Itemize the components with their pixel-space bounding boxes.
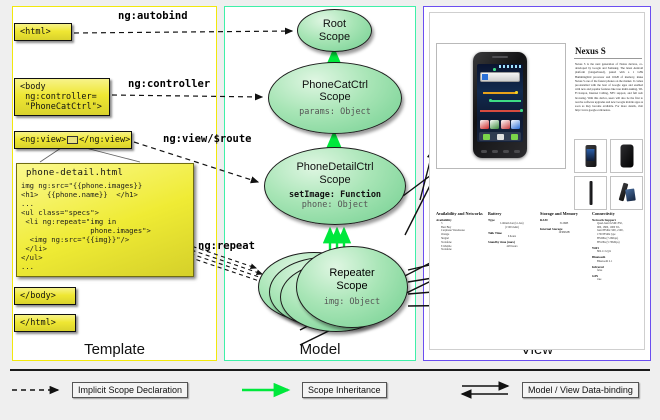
scope-node-root: Root Scope [297,9,372,52]
hero-image-frame [436,43,566,169]
spec-value: Vodafone [436,248,484,252]
screen-dot-2 [515,91,518,94]
diagram-canvas: Template Model View [0,0,660,420]
spec-value: Bluetooth 2.1 [592,260,640,264]
sticky-note-code: img ng:src="{{phone.images}} <h1> {{phon… [17,180,193,276]
scope-repeater-name-line2: Scope [336,280,367,292]
screen-dot-1 [493,68,496,71]
phone-statusbar [499,65,521,68]
scope-root-name-line1: Root [323,18,346,30]
scope-repeater-name-line1: Repeater [329,267,374,279]
dock-icon-apps [497,134,504,140]
scope-phonedetailctrl-name-line1: PhoneDetailCtrl [296,161,373,173]
thumb-phone-front-icon [585,145,596,167]
spec-value: 6 hours [488,235,536,239]
spec-column-availability: Availability and Networks Availability 3… [436,211,484,282]
ng-view-open-tag: <ng:view> [20,135,66,145]
phone-earpiece [492,56,508,58]
thumbnail-angled[interactable] [610,176,643,210]
spec-column-storage: Storage and Memory RAM 512MB Internal St… [540,211,588,282]
title-divider [574,58,642,59]
spec-value: HSUPA (5.76Mbps) [592,241,640,245]
scope-repeater-name: Repeater Scope [329,267,374,292]
scope-phonecatctrl-prop-params: params: Object [299,107,371,118]
legend-label-implicit: Implicit Scope Declaration [72,382,188,398]
scope-phonecatctrl-name-line2: Scope [319,91,350,103]
screen-stripe-green [491,100,521,102]
spec-heading-availability: Availability and Networks [436,211,484,216]
column-label-template: Template [13,341,216,358]
phone-screen [477,64,523,142]
scope-phonecatctrl-name-line1: PhoneCatCtrl [302,79,368,91]
edge-label-ng-view-route: ng:view/$route [163,133,252,145]
thumb-phone-angled-icon [619,183,635,203]
product-title: Nexus S [575,46,606,56]
rendered-view-page: Nexus S Nexus S is the next generation o… [429,12,645,350]
code-block-ng-view: <ng:view></ng:view> [14,131,132,149]
scope-phonecatctrl-name: PhoneCatCtrl Scope [302,79,368,104]
scope-node-repeater-stack: Repeater Scope img: Object [258,238,408,334]
spec-value: 428 hours [488,245,536,249]
legend-item-scope-inheritance: Scope Inheritance [240,381,387,399]
app-icon-1 [480,120,489,129]
spec-heading-connectivity: Connectivity [592,211,640,216]
code-block-body-close: </body> [14,287,76,305]
spec-value: (1500 mAh) [488,226,536,230]
code-block-html-open: <html> [14,23,72,41]
softkey-menu [492,150,498,153]
scope-node-phonedetailctrl: PhoneDetailCtrl Scope setImage: Function… [264,147,406,225]
screen-app-icons [479,118,521,130]
spec-row: Availability and Networks Availability 3… [436,211,640,282]
product-description: Nexus S is the next generation of Nexus … [575,62,643,112]
scope-phonedetailctrl-name: PhoneDetailCtrl Scope [296,161,373,186]
thumb-phone-back-icon [620,145,633,168]
scope-root-name-line2: Scope [319,31,350,43]
thumbnail-front[interactable] [574,139,607,173]
thumbnail-gallery [574,139,644,210]
sticky-note-filename: phone-detail.html [17,164,193,180]
spec-column-connectivity: Connectivity Network Support Quad-band G… [592,211,640,282]
scope-phonedetailctrl-name-line2: Scope [319,174,350,186]
spec-value: false [592,269,640,273]
spec-column-battery: Battery Type Lithium Ion (Li-Ion) (1500 … [488,211,536,282]
phone-softkeys [478,147,522,156]
spec-heading-storage: Storage and Memory [540,211,588,216]
softkey-back [481,150,487,153]
dock-icon-browser [511,134,518,140]
ng-view-close-tag: </ng:view> [79,135,130,145]
spec-value: 802.11 b/g/n [592,250,640,254]
scope-prop-phone: phone: Object [302,200,369,210]
spec-value: 16384MB [540,231,588,235]
scope-phonedetailctrl-props: setImage: Function phone: Object [289,190,381,211]
legend-label-databinding: Model / View Data-binding [522,382,639,398]
code-block-body-open: <body ng:controller= "PhoneCatCtrl"> [14,78,110,116]
screen-dot-3 [489,99,492,102]
sticky-note-phone-detail: phone-detail.html img ng:src="{{phone.im… [16,163,194,277]
hero-phone-image [473,52,527,158]
scope-prop-setimage: setImage: Function [289,190,381,200]
app-icon-2 [490,120,499,129]
legend-icon-double-arrow [460,383,516,397]
scope-node-phonecatctrl: PhoneCatCtrl Scope params: Object [268,62,402,134]
thumb-phone-side-icon [589,181,592,205]
code-block-html-close: </html> [14,314,76,332]
screen-dot-4 [520,109,523,112]
edge-label-ng-controller: ng:controller [128,78,210,90]
softkey-home [503,150,509,153]
app-icon-4 [511,120,520,129]
legend-item-implicit-scope-declaration: Implicit Scope Declaration [10,381,188,399]
screen-stripe-orange [483,92,517,94]
softkey-search [514,150,520,153]
ng-view-placeholder-icon [67,136,78,144]
legend-divider [10,369,650,371]
screen-stripe-red [480,110,522,112]
repeater-scope-front: Repeater Scope img: Object [296,246,408,328]
dock-icon-phone [483,134,490,140]
legend-icon-dashed-arrow [10,383,66,397]
screen-dock [479,132,521,141]
spec-value: 512MB [540,222,588,226]
phone-search-widget [480,72,520,82]
spec-heading-battery: Battery [488,211,536,216]
spec-value: true [592,278,640,282]
legend-label-inheritance: Scope Inheritance [302,382,387,398]
edge-label-ng-autobind: ng:autobind [118,10,188,22]
thumbnail-side[interactable] [574,176,607,210]
scope-repeater-prop-img: img: Object [324,297,380,307]
spec-table: Availability and Networks Availability 3… [436,211,640,282]
app-icon-3 [501,120,510,129]
edge-label-ng-repeat: ng:repeat [198,240,255,252]
legend-icon-green-arrow [240,383,296,397]
scope-root-name: Root Scope [319,18,350,43]
legend-item-data-binding: Model / View Data-binding [460,381,639,399]
thumbnail-back[interactable] [610,139,643,173]
column-label-model: Model [225,341,415,358]
